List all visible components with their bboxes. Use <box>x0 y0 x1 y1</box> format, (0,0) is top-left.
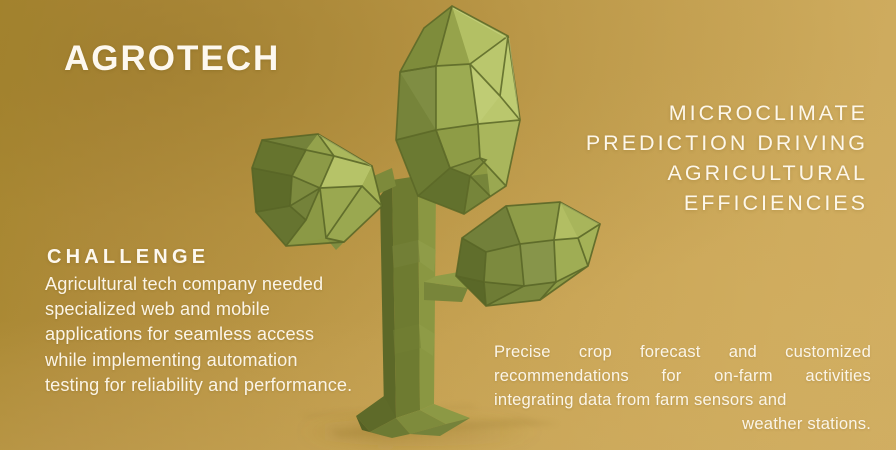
brand-title: AGROTECH <box>64 41 280 76</box>
banner-canvas: AGROTECH MICROCLIMATE PREDICTION DRIVING… <box>0 0 896 450</box>
solution-paragraph: Precise crop forecast and customized rec… <box>494 340 871 436</box>
challenge-heading: CHALLENGE <box>47 245 209 270</box>
headline-line-3: AGRICULTURAL <box>468 158 868 188</box>
headline-line-2: PREDICTION DRIVING <box>468 128 868 158</box>
headline-line-4: EFFICIENCIES <box>468 188 868 218</box>
solution-paragraph-text: Precise crop forecast and customized rec… <box>494 342 871 409</box>
challenge-paragraph: Agricultural tech company needed special… <box>45 272 357 398</box>
headline: MICROCLIMATE PREDICTION DRIVING AGRICULT… <box>468 98 868 218</box>
solution-paragraph-last-line: weather stations. <box>494 412 871 436</box>
headline-line-1: MICROCLIMATE <box>468 98 868 128</box>
